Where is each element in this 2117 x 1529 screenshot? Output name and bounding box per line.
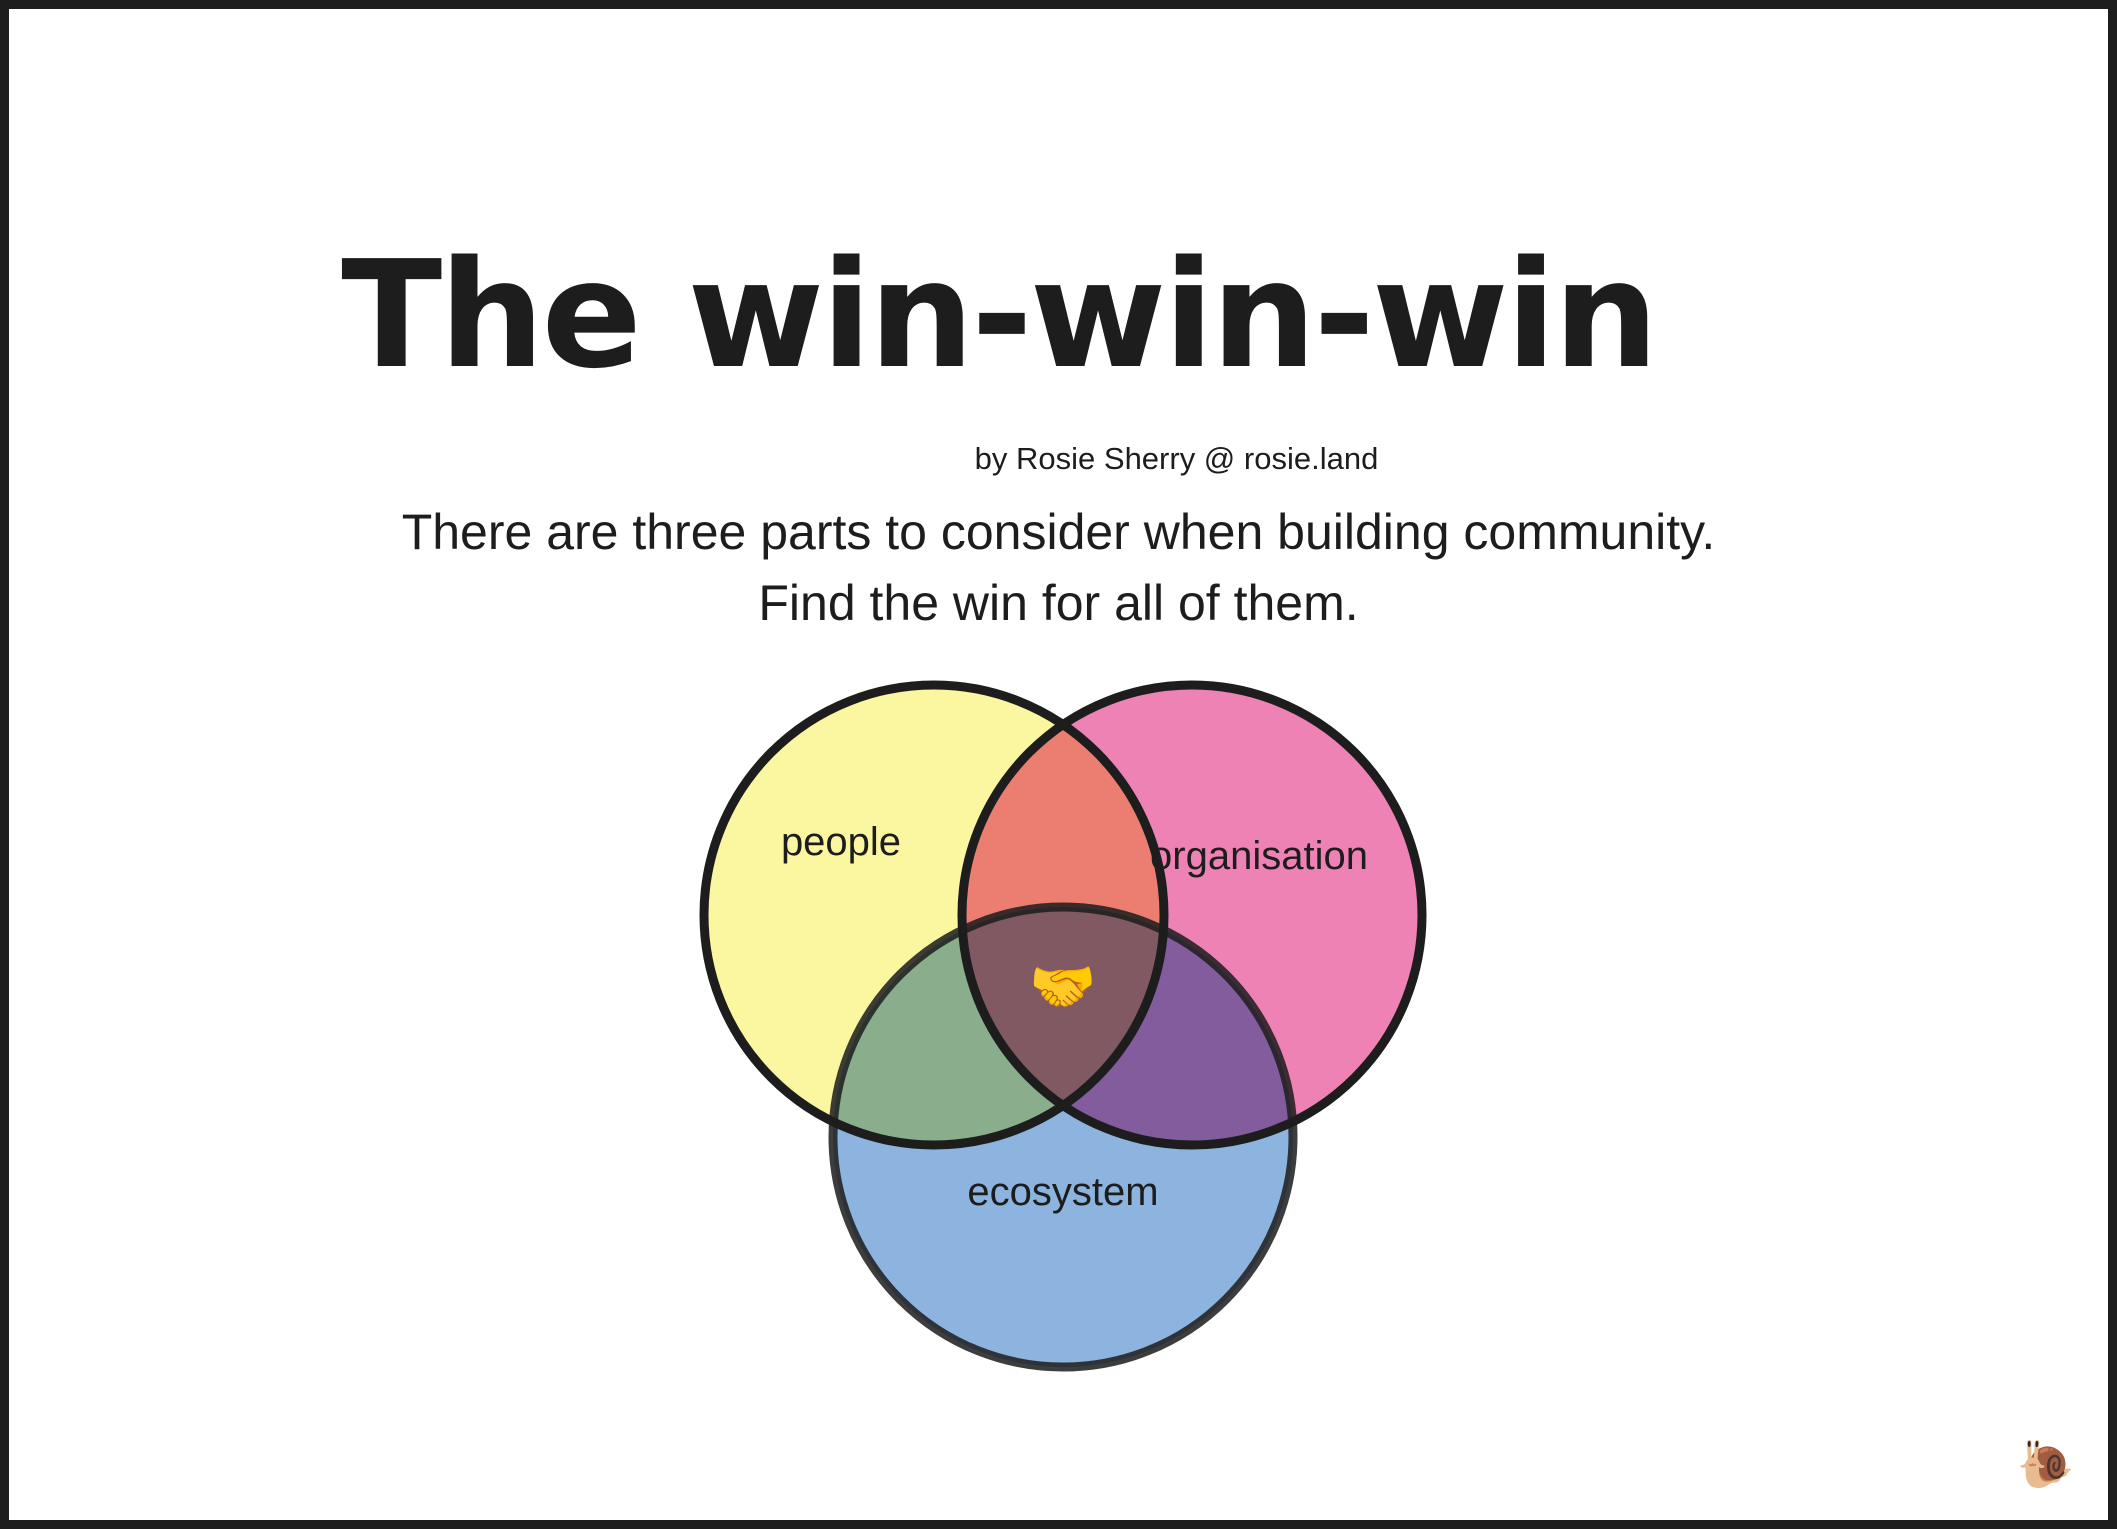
subtitle: There are three parts to consider when b… — [9, 497, 2108, 639]
slide-canvas: The win-win-win by Rosie Sherry @ rosie.… — [9, 9, 2108, 1520]
venn-diagram: people organisation ecosystem 🤝 — [639, 657, 1479, 1397]
page-title: The win-win-win — [9, 241, 2108, 389]
byline-attribution: by Rosie Sherry @ rosie.land — [9, 441, 2108, 477]
page-frame: The win-win-win by Rosie Sherry @ rosie.… — [0, 0, 2117, 1529]
subtitle-line-2: Find the win for all of them. — [9, 568, 2108, 639]
subtitle-line-1: There are three parts to consider when b… — [9, 497, 2108, 568]
venn-label-ecosystem: ecosystem — [967, 1170, 1158, 1214]
venn-label-people: people — [780, 820, 900, 864]
handshake-emoji: 🤝 — [1029, 957, 1096, 1017]
snail-emoji: 🐌 — [2012, 1430, 2080, 1498]
title-block: The win-win-win — [9, 241, 2108, 389]
venn-label-organisation: organisation — [1150, 834, 1368, 878]
